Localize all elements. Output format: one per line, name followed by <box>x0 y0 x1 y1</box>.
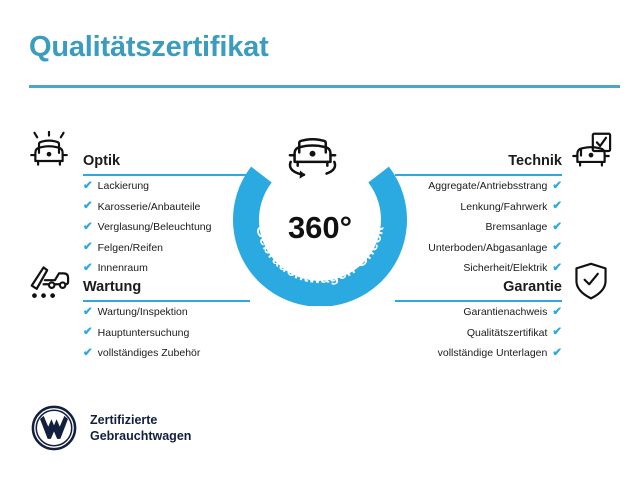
check-icon: ✔ <box>83 327 93 339</box>
check-icon: ✔ <box>83 242 93 254</box>
list-item: Qualitätszertifikat✔ <box>395 323 562 344</box>
list-item-label: Lackierung <box>98 181 149 192</box>
list-item-label: Bremsanlage <box>485 222 547 233</box>
check-icon: ✔ <box>552 348 562 360</box>
list-item: Unterboden/Abgasanlage✔ <box>395 238 562 259</box>
list-item-label: vollständige Unterlagen <box>438 348 548 359</box>
list-item: Aggregate/Antriebsstrang✔ <box>395 176 562 197</box>
section-wartung-list: ✔Wartung/Inspektion ✔Hauptuntersuchung ✔… <box>83 302 250 364</box>
volkswagen-footer: Zertifizierte Gebrauchtwagen <box>31 405 191 451</box>
wrench-car-icon <box>27 262 71 302</box>
check-icon: ✔ <box>552 181 562 193</box>
badge-360-gebrauchtwagen-check: Gebrauchtwagen-Check 360° <box>231 124 409 306</box>
section-optik: Optik ✔Lackierung ✔Karosserie/Anbauteile… <box>83 146 250 279</box>
list-item: Lenkung/Fahrwerk✔ <box>395 197 562 218</box>
car-shine-icon <box>27 131 71 171</box>
footer-line-2: Gebrauchtwagen <box>90 428 191 445</box>
section-technik: Technik Aggregate/Antriebsstrang✔ Lenkun… <box>395 146 562 279</box>
list-item: ✔Hauptuntersuchung <box>83 323 250 344</box>
car-checkbox-icon <box>569 131 613 171</box>
page-title: Qualitätszertifikat <box>29 33 269 62</box>
list-item-label: Unterboden/Abgasanlage <box>428 243 547 254</box>
list-item-label: Hauptuntersuchung <box>98 328 190 339</box>
list-item: ✔vollständiges Zubehör <box>83 343 250 364</box>
check-icon: ✔ <box>83 222 93 234</box>
list-item-label: Felgen/Reifen <box>98 243 163 254</box>
list-item: Garantienachweis✔ <box>395 302 562 323</box>
list-item: ✔Verglasung/Beleuchtung <box>83 217 250 238</box>
check-icon: ✔ <box>83 307 93 319</box>
section-wartung-divider <box>83 300 250 302</box>
section-garantie-header: Garantie <box>395 272 562 302</box>
section-technik-divider <box>395 174 562 176</box>
list-item-label: Aggregate/Antriebsstrang <box>428 181 547 192</box>
list-item: ✔Karosserie/Anbauteile <box>83 197 250 218</box>
section-garantie: Garantie Garantienachweis✔ Qualitätszert… <box>395 272 562 364</box>
check-icon: ✔ <box>552 242 562 254</box>
certificate-page: Qualitätszertifikat Optik ✔Lackierung ✔K… <box>0 0 640 480</box>
check-icon: ✔ <box>552 222 562 234</box>
section-wartung: Wartung ✔Wartung/Inspektion ✔Hauptunters… <box>83 272 250 364</box>
list-item-label: Karosserie/Anbauteile <box>98 202 201 213</box>
check-icon: ✔ <box>552 307 562 319</box>
section-garantie-title: Garantie <box>503 279 562 295</box>
section-optik-title: Optik <box>83 153 120 169</box>
check-icon: ✔ <box>552 327 562 339</box>
section-technik-header: Technik <box>395 146 562 176</box>
list-item: ✔Lackierung <box>83 176 250 197</box>
list-item-label: Lenkung/Fahrwerk <box>460 202 547 213</box>
list-item: ✔Felgen/Reifen <box>83 238 250 259</box>
section-garantie-divider <box>395 300 562 302</box>
volkswagen-footer-text: Zertifizierte Gebrauchtwagen <box>90 412 191 445</box>
list-item-label: Garantienachweis <box>463 307 547 318</box>
check-icon: ✔ <box>83 348 93 360</box>
section-optik-divider <box>83 174 250 176</box>
check-icon: ✔ <box>552 201 562 213</box>
list-item: ✔Wartung/Inspektion <box>83 302 250 323</box>
badge-degrees: 360° <box>231 212 409 243</box>
section-garantie-list: Garantienachweis✔ Qualitätszertifikat✔ v… <box>395 302 562 364</box>
footer-line-1: Zertifizierte <box>90 412 191 429</box>
section-technik-title: Technik <box>508 153 562 169</box>
car-rotate-icon <box>290 139 335 178</box>
check-icon: ✔ <box>83 201 93 213</box>
list-item-label: Wartung/Inspektion <box>98 307 188 318</box>
section-optik-header: Optik <box>83 146 250 176</box>
list-item: vollständige Unterlagen✔ <box>395 343 562 364</box>
list-item: Bremsanlage✔ <box>395 217 562 238</box>
check-icon: ✔ <box>83 181 93 193</box>
title-divider <box>29 85 620 88</box>
volkswagen-logo <box>31 405 77 451</box>
shield-check-icon <box>572 262 610 302</box>
section-optik-list: ✔Lackierung ✔Karosserie/Anbauteile ✔Verg… <box>83 176 250 279</box>
section-technik-list: Aggregate/Antriebsstrang✔ Lenkung/Fahrwe… <box>395 176 562 279</box>
list-item-label: vollständiges Zubehör <box>98 348 201 359</box>
section-wartung-header: Wartung <box>83 272 250 302</box>
list-item-label: Verglasung/Beleuchtung <box>98 222 212 233</box>
list-item-label: Qualitätszertifikat <box>467 328 548 339</box>
section-wartung-title: Wartung <box>83 279 141 295</box>
